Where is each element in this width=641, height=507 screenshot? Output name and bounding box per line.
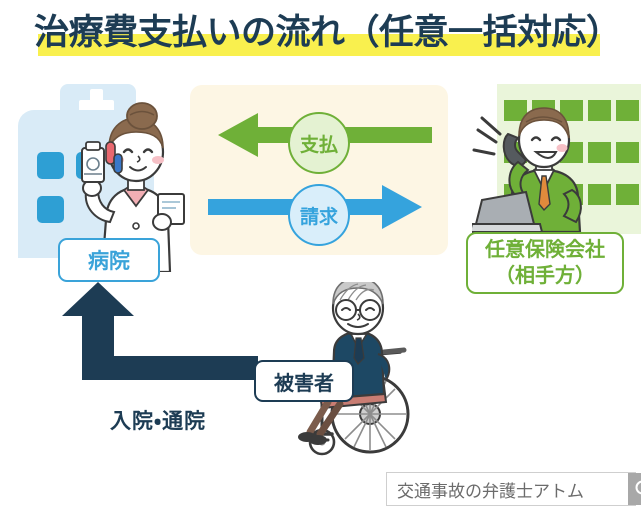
insurer-window [616,100,639,121]
infographic-canvas: 治療費支払いの流れ（任意一括対応） [0,0,641,507]
insurer-label-line1: 任意保険会社 [485,237,605,263]
victim-label: 被害者 [254,360,354,402]
search-button[interactable] [628,473,641,505]
search-icon [634,479,641,499]
insurer-window [616,142,639,163]
billing-badge: 請求 [288,184,350,246]
search-bar[interactable] [386,472,636,506]
flow-panel: 支払 請求 [190,85,448,255]
payment-badge: 支払 [288,112,350,174]
visit-flow-caption: 入院・通院 [110,405,206,435]
hospital-label: 病院 [58,238,160,282]
page-title-text: 治療費支払いの流れ（任意一括対応） [34,10,621,56]
insurer-label-line2: （相手方） [495,263,595,289]
insurer-label: 任意保険会社 （相手方） [466,232,624,294]
victim-label-text: 被害者 [274,367,334,396]
search-input[interactable] [387,473,628,505]
insurer-window [616,184,639,205]
billing-badge-text: 請求 [300,202,338,229]
hospital-window [37,196,64,223]
hospital-label-text: 病院 [88,245,130,275]
insurer-group [460,84,641,244]
hospital-window [37,152,64,179]
insurance-agent-illustration [472,100,617,245]
payment-badge-text: 支払 [300,130,338,157]
page-title: 治療費支払いの流れ（任意一括対応） [34,10,621,58]
